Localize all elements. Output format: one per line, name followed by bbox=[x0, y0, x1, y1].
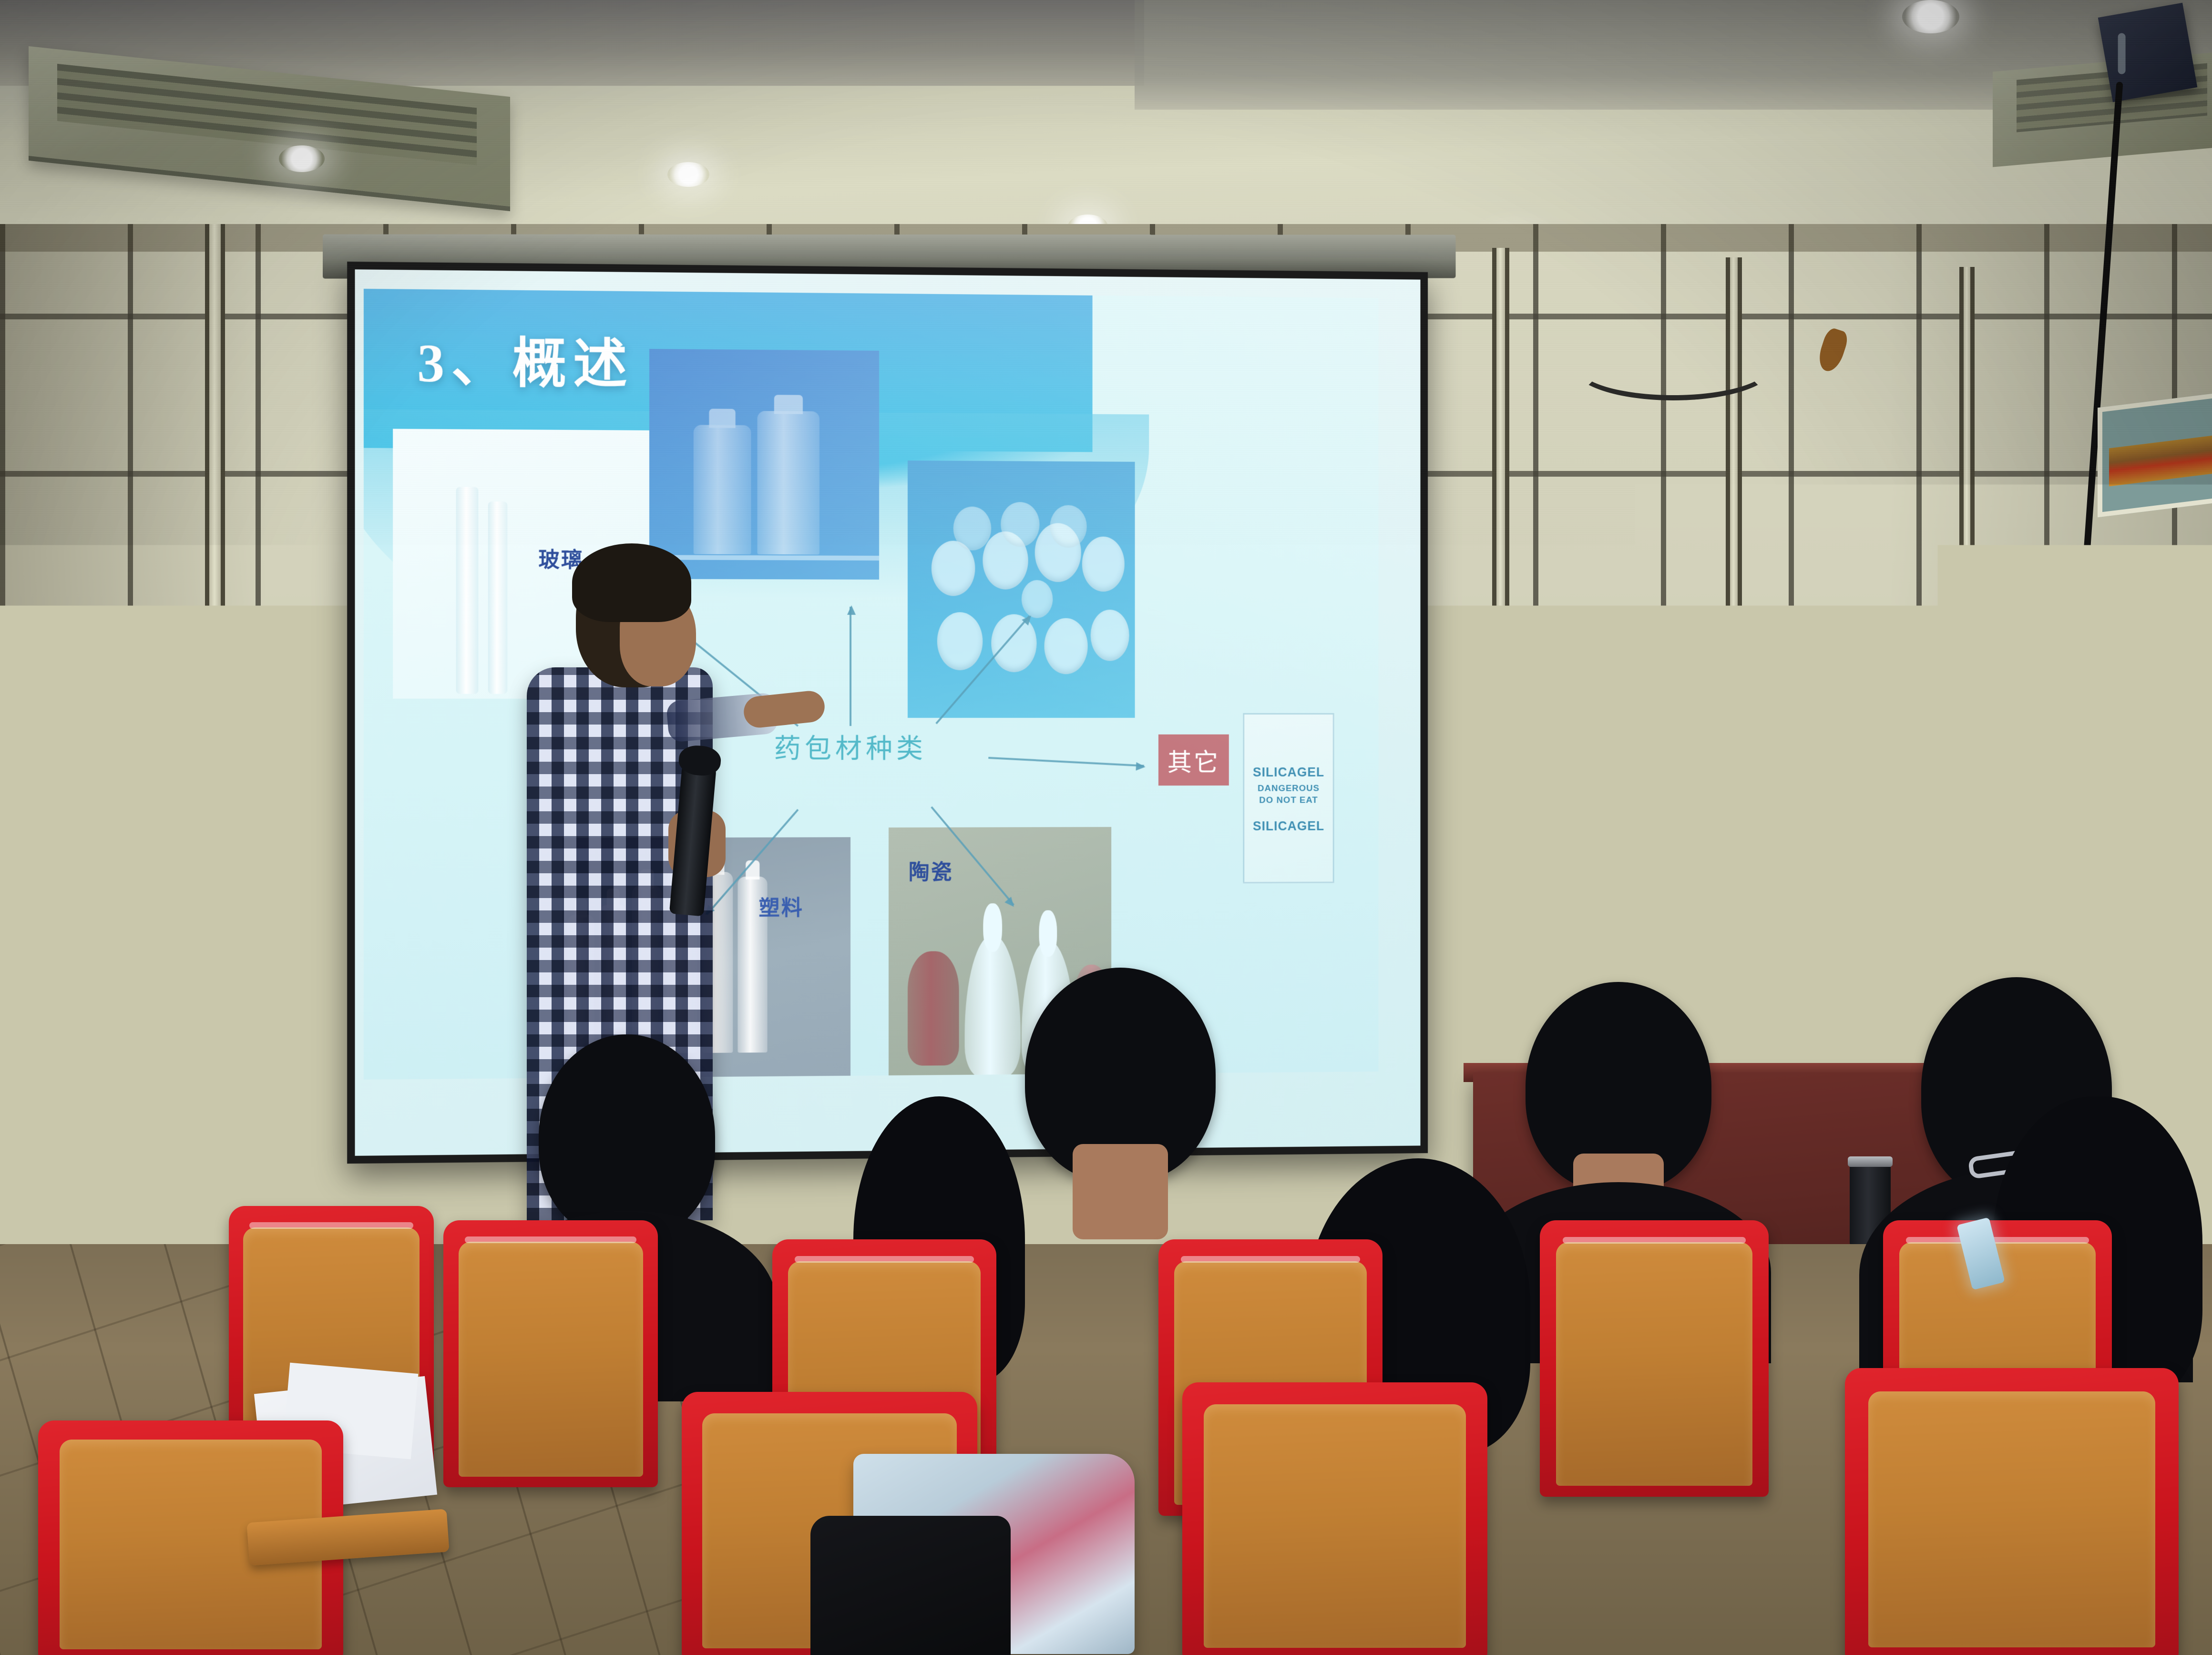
seat-wood-back bbox=[1868, 1391, 2155, 1647]
glass-bottle-b-neck bbox=[774, 395, 803, 414]
tablet-on-tray bbox=[547, 1570, 668, 1610]
slide-node-label-ceramic: 陶瓷 bbox=[909, 855, 953, 886]
silica-line-2: DANGEROUS bbox=[1258, 784, 1320, 793]
seat-highlight bbox=[249, 1222, 413, 1229]
presenter-hair bbox=[572, 543, 691, 622]
wall-panel-art bbox=[2109, 435, 2212, 486]
glass-bottle-a-neck bbox=[709, 409, 736, 428]
glass-tube-1 bbox=[456, 487, 479, 694]
glass-bottle-a bbox=[694, 425, 751, 554]
stopper-8 bbox=[937, 612, 983, 670]
stopper-7 bbox=[1050, 505, 1086, 548]
framed-wall-panel bbox=[2098, 393, 2212, 518]
silica-line-4: SILICAGEL bbox=[1253, 819, 1324, 833]
slide-center-node: 药包材种类 bbox=[745, 732, 955, 766]
slide-title: 3、概述 bbox=[417, 319, 634, 398]
silica-line-1: SILICAGEL bbox=[1253, 766, 1324, 779]
seat-highlight bbox=[465, 1236, 636, 1243]
seat-wood-back bbox=[459, 1242, 643, 1477]
wall-speaker-camera bbox=[2098, 3, 2198, 102]
hanging-cable-loop bbox=[1573, 334, 1773, 400]
seat-bracket-1 bbox=[481, 1549, 510, 1621]
silica-gel-packet: SILICAGEL DANGEROUS DO NOT EAT SILICAGEL bbox=[1243, 713, 1334, 883]
seat-wood-back bbox=[1204, 1404, 1466, 1647]
projection-screen-frame: 3、概述 玻璃 bbox=[347, 262, 1428, 1164]
seat-highlight bbox=[795, 1256, 974, 1263]
stopper-12 bbox=[1022, 580, 1053, 618]
stopper-10 bbox=[1044, 618, 1087, 674]
ceramic-blue-white-vase-1 bbox=[965, 935, 1021, 1078]
silica-line-3: DO NOT EAT bbox=[1259, 796, 1318, 805]
ceramic-red-vase bbox=[908, 951, 959, 1065]
stopper-6 bbox=[1001, 502, 1039, 547]
wall-pilaster-1 bbox=[205, 224, 225, 1263]
projection-screen-surface: 3、概述 玻璃 bbox=[355, 269, 1420, 1156]
rubber-stoppers-photo bbox=[908, 460, 1135, 718]
slide-canvas: 3、概述 玻璃 bbox=[364, 289, 1379, 1080]
slide-node-label-plastic: 塑料 bbox=[759, 891, 804, 922]
seat-row2-3[interactable] bbox=[1182, 1382, 1487, 1655]
downlight-7 bbox=[1902, 0, 1959, 33]
glass-tube-2 bbox=[488, 501, 508, 694]
downlight-2 bbox=[667, 162, 709, 187]
stopper-11 bbox=[1091, 610, 1129, 661]
black-backpack bbox=[810, 1516, 1011, 1655]
seat-highlight bbox=[1181, 1256, 1360, 1263]
seat-wood-back bbox=[1556, 1242, 1753, 1485]
seat-highlight bbox=[1906, 1237, 2089, 1244]
slide-node-other: 其它 bbox=[1158, 735, 1229, 786]
stopper-4 bbox=[1082, 537, 1125, 592]
seat-row2-4[interactable] bbox=[1845, 1368, 2179, 1655]
seat-highlight bbox=[1563, 1237, 1746, 1244]
downlight-1 bbox=[279, 145, 325, 172]
glass-bottle-b bbox=[758, 411, 819, 554]
stopper-5 bbox=[953, 507, 992, 551]
wall-pilaster-2 bbox=[1492, 248, 1509, 1182]
lecture-hall-photo: THREELEAVES 3、概述 玻璃 bbox=[0, 0, 2212, 1655]
seat-row3-5[interactable] bbox=[1540, 1220, 1769, 1497]
seat-row3-2[interactable] bbox=[443, 1220, 658, 1487]
glass-photo-shelf bbox=[649, 555, 879, 561]
glass-bottles-photo bbox=[649, 349, 879, 580]
audience-neck-back-1 bbox=[1073, 1144, 1168, 1239]
audience-head-back-6 bbox=[539, 1034, 715, 1239]
wall-shadow-left bbox=[0, 224, 267, 1263]
arrow-to-glass-bottles bbox=[850, 607, 851, 726]
arrow-to-other bbox=[988, 757, 1144, 767]
